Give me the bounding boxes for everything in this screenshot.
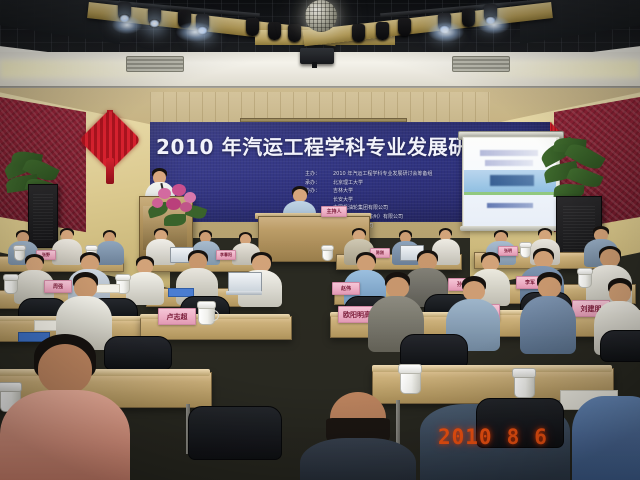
- datestamp-day: 6: [534, 425, 548, 449]
- organizer-label: 主办：: [305, 170, 329, 179]
- datestamp-month: 8: [507, 425, 521, 449]
- slide-line-2: [485, 160, 533, 166]
- mug-lid: [577, 268, 593, 275]
- mug-lid: [197, 301, 216, 309]
- placard: 赵伟: [332, 282, 360, 295]
- chair: [400, 334, 468, 368]
- mug-lid: [85, 245, 98, 251]
- datestamp-year: 2010: [438, 425, 493, 449]
- stage-light: [178, 10, 191, 28]
- foreground-attendee-bald: [300, 392, 416, 480]
- ac-vent: [126, 56, 184, 72]
- stage-light: [118, 2, 131, 20]
- stage-light: [484, 4, 497, 22]
- stage-light: [352, 24, 365, 42]
- stage-light: [462, 9, 475, 27]
- chair: [600, 330, 640, 362]
- slide-headline-text: [490, 175, 534, 186]
- foreground-attendee-pink-shirt: [0, 334, 130, 480]
- chinese-knot-left: [84, 116, 136, 186]
- stage-light: [148, 7, 161, 25]
- slide-line-1: [480, 150, 538, 156]
- attendee: [520, 272, 576, 350]
- disco-ball-facets: [305, 0, 337, 32]
- mug-lid: [3, 274, 19, 281]
- stage-light: [438, 13, 451, 31]
- stage-light: [288, 24, 301, 42]
- mug-lid: [13, 245, 26, 251]
- foreground-attendee-far-right: [572, 396, 640, 480]
- ceiling-projector: [300, 48, 334, 64]
- banner-title: 2010 年汽运工程学科专业发展研讨会: [156, 131, 496, 160]
- stage-light: [196, 14, 209, 32]
- camera-date-stamp: 2010 8 6: [438, 425, 548, 449]
- attendee: [126, 256, 164, 300]
- placard-head-table: 主持人: [321, 206, 347, 217]
- placard-lu-zhichao: 卢志超: [158, 308, 196, 325]
- stage-light: [376, 22, 389, 40]
- chair: [188, 406, 282, 460]
- conference-hall-photo: 2010 年汽运工程学科专业发展研讨会 主办： 2010 年汽运工程学科专业发展…: [0, 0, 640, 480]
- stage-light: [268, 22, 281, 40]
- mug-lid: [321, 245, 334, 251]
- ac-vent: [452, 56, 510, 72]
- stage-light: [246, 18, 259, 36]
- flower-arrangement: [146, 182, 208, 224]
- mug-lid: [398, 364, 422, 374]
- slide-footer-text: [487, 203, 533, 208]
- mug-lid: [115, 274, 131, 281]
- stage-light: [398, 18, 411, 36]
- mug-lid: [512, 368, 536, 378]
- laptop-base: [226, 291, 262, 295]
- placard: 李春阳: [216, 250, 236, 260]
